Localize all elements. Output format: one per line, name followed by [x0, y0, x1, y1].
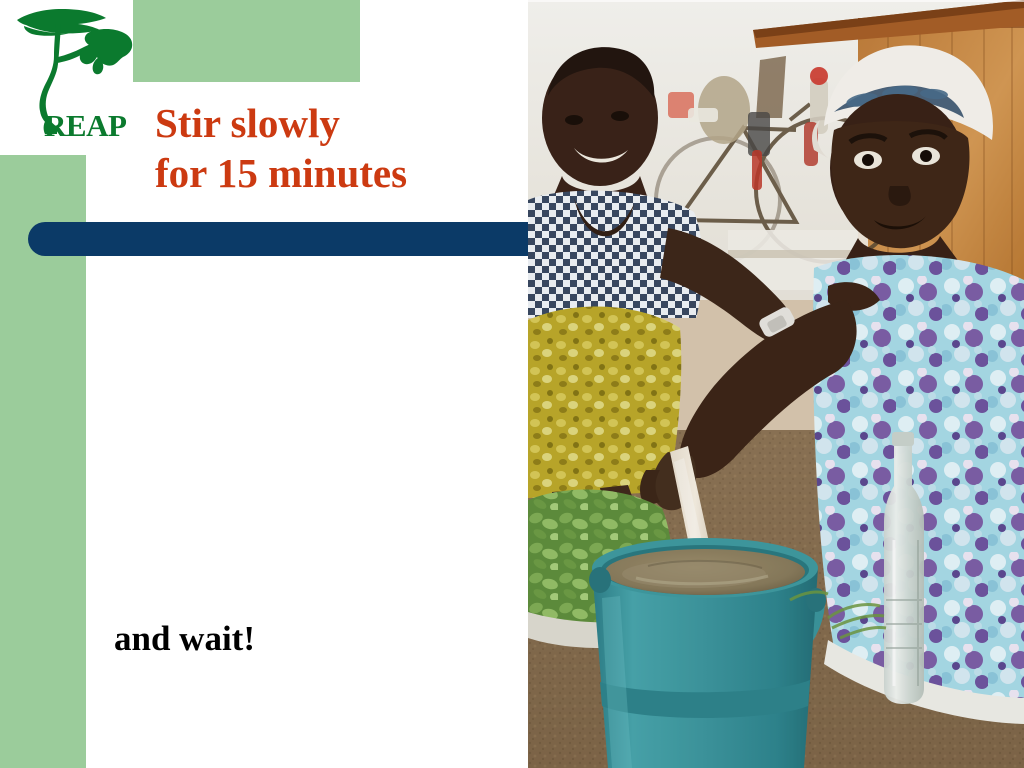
- slide-photo: [528, 0, 1024, 768]
- slide-title: Stir slowly for 15 minutes: [155, 98, 505, 198]
- reap-wordmark: REAP: [44, 110, 126, 141]
- green-accent-block: [133, 0, 360, 82]
- slide-subtitle: and wait!: [114, 621, 255, 656]
- photo-illustration: [528, 0, 1024, 768]
- navy-rule-bar: [28, 222, 528, 256]
- presentation-slide: REAP Stir slowly for 15 minutes and wait…: [0, 0, 1024, 768]
- reap-logo: REAP: [14, 2, 140, 152]
